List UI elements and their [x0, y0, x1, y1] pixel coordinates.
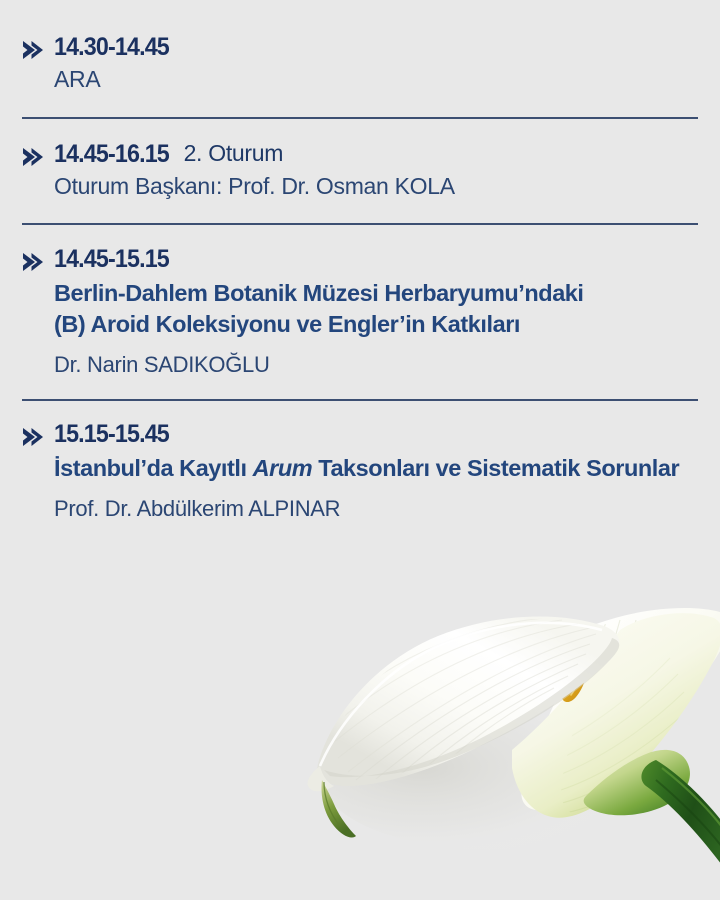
agenda-time: 14.30-14.45: [54, 34, 169, 60]
spacer: [0, 119, 720, 141]
chevron-right-icon: [20, 250, 44, 274]
spacer: [0, 379, 720, 399]
flower-neck: [584, 750, 690, 815]
agenda-time: 14.45-16.15: [54, 141, 169, 167]
chevron-right-icon: [20, 425, 44, 449]
agenda-item-talk-1: 14.45-15.15 Berlin-Dahlem Botanik Müzesi…: [0, 246, 720, 380]
agenda-time-line: 14.45-15.15: [54, 246, 696, 272]
agenda-speaker: Dr. Narin SADIKOĞLU: [54, 351, 696, 380]
talk-title-genus: Arum: [253, 455, 313, 481]
petal-back: [521, 608, 720, 810]
stem: [641, 760, 720, 876]
agenda-subtitle: ARA: [54, 65, 696, 95]
agenda-time: 14.45-15.15: [54, 246, 169, 272]
agenda-chair: Oturum Başkanı: Prof. Dr. Osman KOLA: [54, 172, 696, 202]
talk-title-part-2: Taksonları ve Sistematik Sorunlar: [312, 455, 679, 481]
chevron-right-icon: [20, 145, 44, 169]
talk-title-part-1: İstanbul’da Kayıtlı: [54, 455, 253, 481]
agenda-item-talk-2: 15.15-15.45 İstanbul’da Kayıtlı Arum Tak…: [0, 421, 720, 524]
agenda-time-line: 14.45-16.152. Oturum: [54, 141, 696, 167]
spacer: [0, 202, 720, 223]
agenda-talk-title: Berlin-Dahlem Botanik Müzesi Herbaryumu’…: [54, 278, 696, 340]
chevron-right-icon: [20, 38, 44, 62]
slide-root: 14.30-14.45 ARA 14.45-16.152. Oturum Otu…: [0, 0, 720, 900]
agenda-item-session-2: 14.45-16.152. Oturum Oturum Başkanı: Pro…: [0, 141, 720, 202]
spacer: [0, 95, 720, 117]
spacer: [0, 225, 720, 246]
agenda-session-label: 2. Oturum: [184, 142, 284, 166]
talk-title-line-1: Berlin-Dahlem Botanik Müzesi Herbaryumu’…: [54, 280, 584, 306]
agenda-time-line: 14.30-14.45: [54, 34, 696, 60]
petal-throat: [512, 613, 720, 818]
agenda-speaker: Prof. Dr. Abdülkerim ALPINAR: [54, 495, 696, 524]
agenda-time-line: 15.15-15.45: [54, 421, 696, 447]
petal-tip: [308, 766, 356, 838]
calla-lily-photo: [290, 600, 720, 900]
spacer: [0, 401, 720, 421]
spadix: [561, 664, 586, 702]
talk-title-line-2: (B) Aroid Koleksiyonu ve Engler’in Katkı…: [54, 311, 520, 337]
agenda-item-break: 14.30-14.45 ARA: [0, 34, 720, 95]
agenda-talk-title: İstanbul’da Kayıtlı Arum Taksonları ve S…: [54, 453, 696, 484]
petal-front: [317, 617, 619, 786]
agenda-time: 15.15-15.45: [54, 421, 169, 447]
agenda-list: 14.30-14.45 ARA 14.45-16.152. Oturum Otu…: [0, 0, 720, 524]
